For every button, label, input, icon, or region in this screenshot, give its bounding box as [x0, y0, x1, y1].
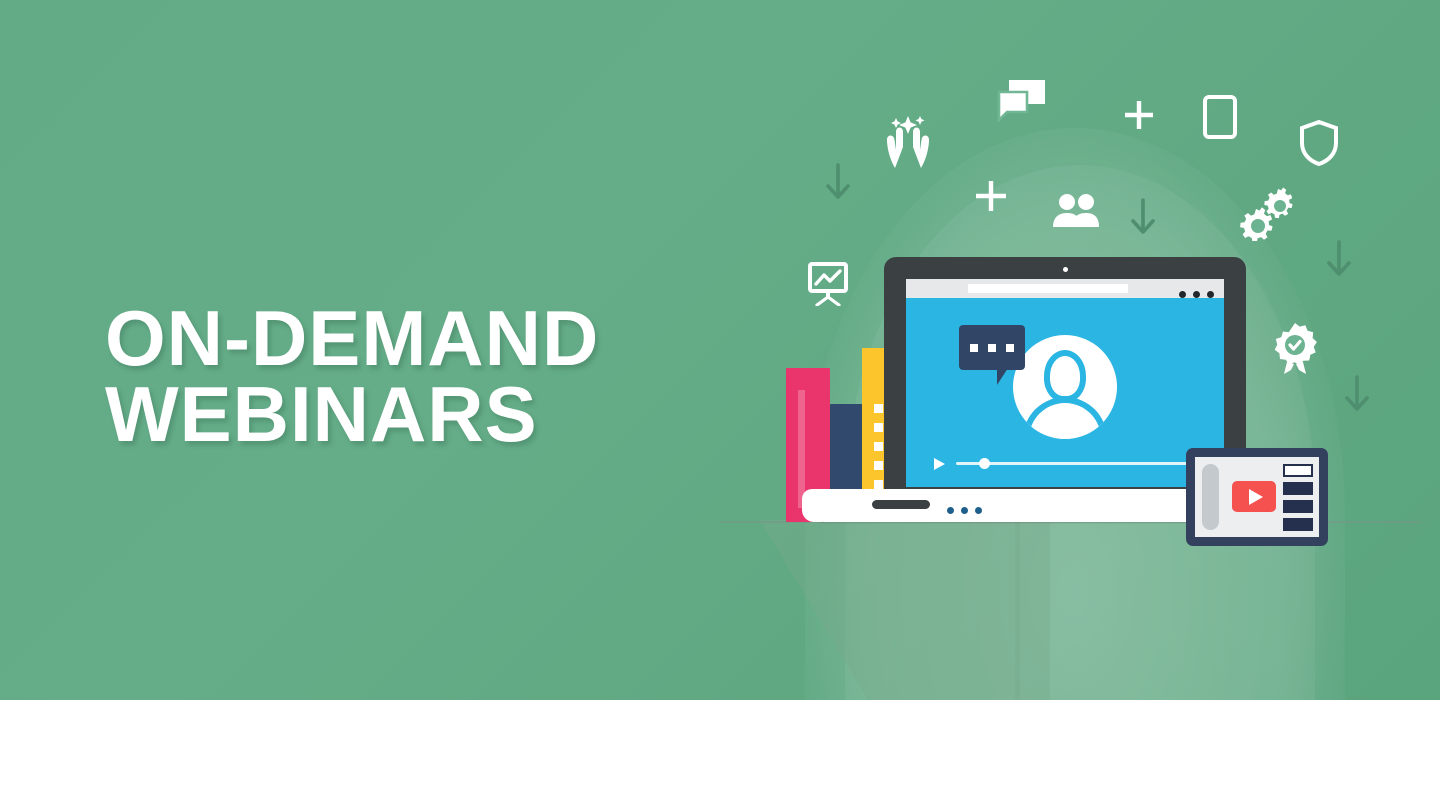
speech-bubble-icon: [959, 325, 1025, 370]
arrow-down-icon: [1343, 375, 1371, 415]
user-avatar-icon: [1013, 335, 1117, 439]
book-spine-stripe: [798, 390, 805, 508]
footer-bar: SurveyCTO: [0, 700, 1440, 800]
avatar-shoulders: [1023, 397, 1107, 439]
browser-bar: [906, 279, 1224, 298]
browser-menu-dots[interactable]: [1172, 285, 1214, 303]
presentation-chart-icon: [808, 262, 848, 306]
webinar-banner: ON-DEMAND WEBINARS: [0, 0, 1440, 800]
sparkle-hands-icon: [879, 112, 937, 170]
playlist-item[interactable]: [1283, 482, 1313, 495]
video-playlist[interactable]: [1283, 464, 1313, 536]
webcam-dot: [1063, 267, 1068, 272]
avatar-head: [1044, 350, 1086, 402]
speech-bubble-tail: [997, 365, 1010, 385]
video-scroll-handle[interactable]: [1202, 464, 1219, 530]
arrow-down-icon: [1129, 198, 1157, 238]
laptop-screen: [906, 279, 1224, 487]
url-field[interactable]: [968, 284, 1128, 293]
progress-knob[interactable]: [979, 458, 990, 469]
progress-track[interactable]: [956, 462, 1196, 465]
plus-icon: [973, 178, 1009, 214]
video-player-body: [1195, 457, 1319, 537]
playlist-item[interactable]: [1283, 464, 1313, 477]
tablet-icon: [1203, 95, 1237, 139]
playlist-item[interactable]: [1283, 500, 1313, 513]
laptop-cast-shadow: [760, 520, 1020, 700]
gears-icon: [1238, 185, 1294, 241]
play-button[interactable]: [1232, 481, 1276, 512]
people-group-icon: [1053, 193, 1099, 229]
hero-section: ON-DEMAND WEBINARS: [0, 0, 1440, 700]
arrow-down-icon: [1325, 240, 1353, 280]
chat-bubbles-icon: [997, 78, 1047, 122]
page-title: ON-DEMAND WEBINARS: [105, 300, 745, 453]
video-player-card[interactable]: [1186, 448, 1328, 546]
award-badge-icon: [1272, 322, 1318, 374]
plus-icon: [1122, 98, 1156, 132]
base-indicator-dots: [940, 501, 982, 519]
video-progress-bar[interactable]: [934, 457, 1196, 469]
trackpad: [872, 500, 930, 509]
playlist-item[interactable]: [1283, 518, 1313, 531]
play-icon[interactable]: [934, 458, 945, 470]
arrow-down-icon: [824, 163, 852, 203]
laptop-cast-shadow-edge: [1015, 520, 1050, 700]
shield-icon: [1298, 119, 1340, 167]
